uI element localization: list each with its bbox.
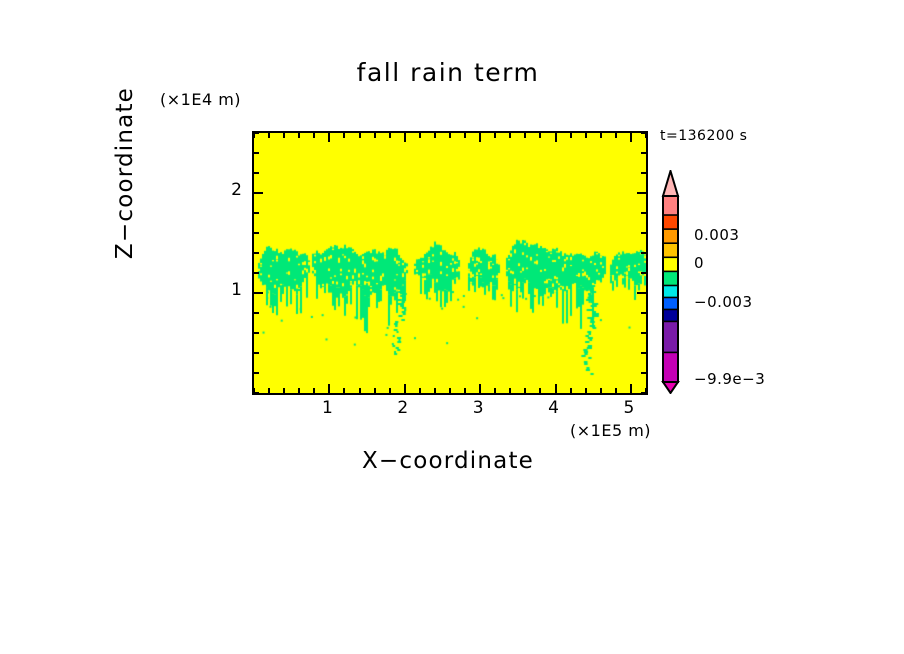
x-axis-tick <box>449 388 451 393</box>
y-axis-tick-right <box>641 372 646 374</box>
y-axis-tick <box>254 372 259 374</box>
colorbar-band <box>663 257 678 272</box>
y-axis-tick <box>254 132 259 134</box>
x-axis-tick-top <box>630 133 632 142</box>
y-axis-tick-right <box>641 212 646 214</box>
y-axis-tick <box>254 252 259 254</box>
colorbar-tick-label: −0.003 <box>694 293 753 311</box>
x-axis-tick-top <box>328 133 330 142</box>
y-axis-tick-right <box>641 252 646 254</box>
y-axis-tick-label: 2 <box>216 180 242 200</box>
x-axis-tick-label: 5 <box>614 398 644 418</box>
x-axis-tick-top <box>449 133 451 138</box>
y-axis-tick-right <box>637 292 646 294</box>
colorbar-tick-label: 0.003 <box>694 226 739 244</box>
time-annotation: t=136200 s <box>660 128 747 144</box>
page-title: fall rain term <box>252 58 644 87</box>
x-axis-tick-label: 4 <box>539 398 569 418</box>
x-axis-tick-top <box>374 133 376 138</box>
x-axis-tick <box>630 384 632 393</box>
y-axis-tick <box>254 152 259 154</box>
y-axis-tick-right <box>641 332 646 334</box>
x-axis-tick-top <box>555 133 557 142</box>
x-axis-tick <box>600 388 602 393</box>
colorbar-top-arrow <box>663 171 678 196</box>
x-axis-tick <box>539 388 541 393</box>
y-axis-tick-label: 1 <box>216 280 242 300</box>
x-axis-tick-top <box>585 133 587 138</box>
y-axis-tick <box>254 352 259 354</box>
colorbar-band <box>663 271 678 286</box>
figure-root: fall rain term (×1E4 m) t=136200 s 12345… <box>0 0 904 654</box>
colorbar-band <box>663 229 678 244</box>
y-axis-tick <box>254 212 259 214</box>
y-axis-unit-label: (×1E4 m) <box>160 90 241 109</box>
x-axis-tick-top <box>464 133 466 138</box>
x-axis-tick-top <box>509 133 511 138</box>
x-axis-tick-top <box>615 133 617 138</box>
x-axis-tick-top <box>298 133 300 138</box>
field-heatmap <box>254 133 646 393</box>
x-axis-title: X−coordinate <box>252 448 644 474</box>
x-axis-tick <box>615 388 617 393</box>
colorbar-band <box>663 243 678 258</box>
x-axis-tick-top <box>479 133 481 142</box>
y-axis-tick <box>254 232 259 234</box>
y-axis-title: Z−coordinate <box>112 43 138 303</box>
x-axis-tick <box>374 388 376 393</box>
colorbar-band <box>663 285 678 298</box>
colorbar-band <box>663 215 678 230</box>
x-axis-tick-label: 1 <box>312 398 342 418</box>
y-axis-tick-right <box>641 392 646 394</box>
x-axis-tick <box>404 384 406 393</box>
y-axis-tick <box>254 312 259 314</box>
x-axis-tick-top <box>343 133 345 138</box>
x-axis-tick <box>359 388 361 393</box>
x-axis-tick <box>555 384 557 393</box>
colorbar-band <box>663 309 678 322</box>
colorbar-tick-label: 0 <box>694 254 704 272</box>
y-axis-tick <box>254 392 259 394</box>
x-axis-tick <box>313 388 315 393</box>
y-axis-tick <box>254 292 263 294</box>
y-axis-tick-right <box>641 232 646 234</box>
x-axis-tick-top <box>313 133 315 138</box>
x-axis-tick <box>328 384 330 393</box>
x-axis-tick <box>570 388 572 393</box>
colorbar-band <box>663 297 678 310</box>
x-axis-tick <box>434 388 436 393</box>
x-axis-tick-top <box>434 133 436 138</box>
x-axis-tick-top <box>283 133 285 138</box>
y-axis-tick <box>254 272 259 274</box>
x-axis-tick <box>585 388 587 393</box>
x-axis-tick-top <box>570 133 572 138</box>
y-axis-tick-right <box>641 312 646 314</box>
x-axis-tick <box>464 388 466 393</box>
x-axis-tick-label: 2 <box>388 398 418 418</box>
x-axis-tick-top <box>404 133 406 142</box>
x-axis-tick <box>283 388 285 393</box>
x-axis-tick-top <box>268 133 270 138</box>
x-axis-tick <box>479 384 481 393</box>
y-axis-tick <box>254 192 263 194</box>
colorbar-bottom-arrow <box>663 382 678 393</box>
x-axis-tick <box>389 388 391 393</box>
colorbar-tick-label: −9.9e−3 <box>694 370 765 388</box>
x-axis-tick-label: 3 <box>463 398 493 418</box>
colorbar-band <box>663 196 678 216</box>
x-axis-tick <box>268 388 270 393</box>
x-axis-tick-top <box>494 133 496 138</box>
x-axis-tick-top <box>419 133 421 138</box>
colorbar-svg <box>660 170 684 394</box>
x-axis-tick <box>298 388 300 393</box>
plot-area <box>252 131 648 395</box>
x-axis-tick-top <box>600 133 602 138</box>
x-axis-tick <box>343 388 345 393</box>
x-axis-tick-top <box>539 133 541 138</box>
colorbar-band <box>663 352 678 382</box>
x-axis-tick <box>419 388 421 393</box>
y-axis-tick-right <box>637 192 646 194</box>
x-axis-tick-top <box>359 133 361 138</box>
y-axis-tick-right <box>641 172 646 174</box>
x-axis-unit-label: (×1E5 m) <box>570 421 651 440</box>
y-axis-tick-right <box>641 352 646 354</box>
x-axis-tick-top <box>389 133 391 138</box>
x-axis-tick <box>524 388 526 393</box>
y-axis-tick-right <box>641 132 646 134</box>
y-axis-tick <box>254 332 259 334</box>
colorbar-band <box>663 321 678 353</box>
x-axis-tick <box>494 388 496 393</box>
y-axis-tick-right <box>641 272 646 274</box>
x-axis-tick-top <box>524 133 526 138</box>
x-axis-tick <box>509 388 511 393</box>
y-axis-tick <box>254 172 259 174</box>
colorbar <box>660 170 684 394</box>
y-axis-tick-right <box>641 152 646 154</box>
